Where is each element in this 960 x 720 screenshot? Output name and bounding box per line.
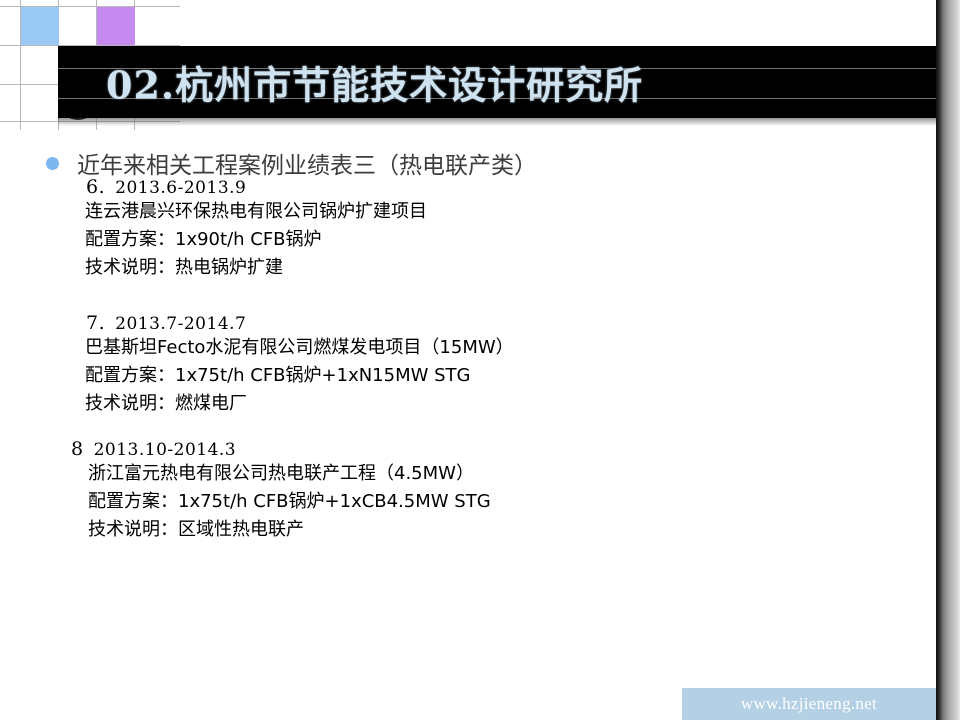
- entry-config: 配置方案：1x75t/h CFB锅炉+1xN15MW STG: [85, 362, 936, 390]
- entry-period: 2013.10-2014.3: [94, 440, 237, 460]
- entry-project: 连云港晨兴环保热电有限公司锅炉扩建项目: [85, 198, 936, 226]
- slide-root: 02.杭州市节能技术设计研究所 近年来相关工程案例业绩表三（热电联产类） 6.2…: [0, 0, 960, 720]
- entry-config: 配置方案：1x75t/h CFB锅炉+1xCB4.5MW STG: [88, 488, 936, 516]
- entry-index: 7.: [86, 312, 105, 334]
- deco-square-light-blue: [21, 7, 59, 45]
- entry-header: 6.2013.6-2013.9: [86, 176, 936, 198]
- entry-project: 巴基斯坦Fecto水泥有限公司燃煤发电项目（15MW）: [85, 334, 936, 362]
- section-bullet: 近年来相关工程案例业绩表三（热电联产类）: [46, 146, 537, 180]
- banner-shadow: [58, 118, 936, 126]
- entry-index: 8: [71, 438, 84, 460]
- entry-config: 配置方案：1x90t/h CFB锅炉: [85, 226, 936, 254]
- footer-url[interactable]: www.hzjieneng.net: [682, 688, 936, 720]
- deco-square-purple: [97, 7, 135, 45]
- entry-header: 82013.10-2014.3: [71, 438, 936, 460]
- page-title: 02.杭州市节能技术设计研究所: [106, 55, 643, 110]
- section-bullet-label: 近年来相关工程案例业绩表三（热电联产类）: [77, 146, 537, 180]
- entry-period: 2013.6-2013.9: [115, 178, 246, 198]
- entry-tech: 技术说明：热电锅炉扩建: [85, 254, 936, 282]
- entry-period: 2013.7-2014.7: [115, 314, 246, 334]
- list-item: 82013.10-2014.3 浙江富元热电有限公司热电联产工程（4.5MW） …: [0, 438, 936, 544]
- list-item: 7.2013.7-2014.7 巴基斯坦Fecto水泥有限公司燃煤发电项目（15…: [0, 312, 936, 418]
- entry-header: 7.2013.7-2014.7: [86, 312, 936, 334]
- bullet-dot-icon: [46, 157, 59, 170]
- list-item: 6.2013.6-2013.9 连云港晨兴环保热电有限公司锅炉扩建项目 配置方案…: [0, 176, 936, 282]
- footer-bar: www.hzjieneng.net: [682, 688, 936, 720]
- entry-project: 浙江富元热电有限公司热电联产工程（4.5MW）: [88, 460, 936, 488]
- slide-edge-shadow: [936, 0, 960, 720]
- entry-tech: 技术说明：区域性热电联产: [88, 516, 936, 544]
- title-banner: 02.杭州市节能技术设计研究所: [58, 46, 936, 118]
- entry-tech: 技术说明：燃煤电厂: [85, 390, 936, 418]
- entry-index: 6.: [86, 176, 105, 198]
